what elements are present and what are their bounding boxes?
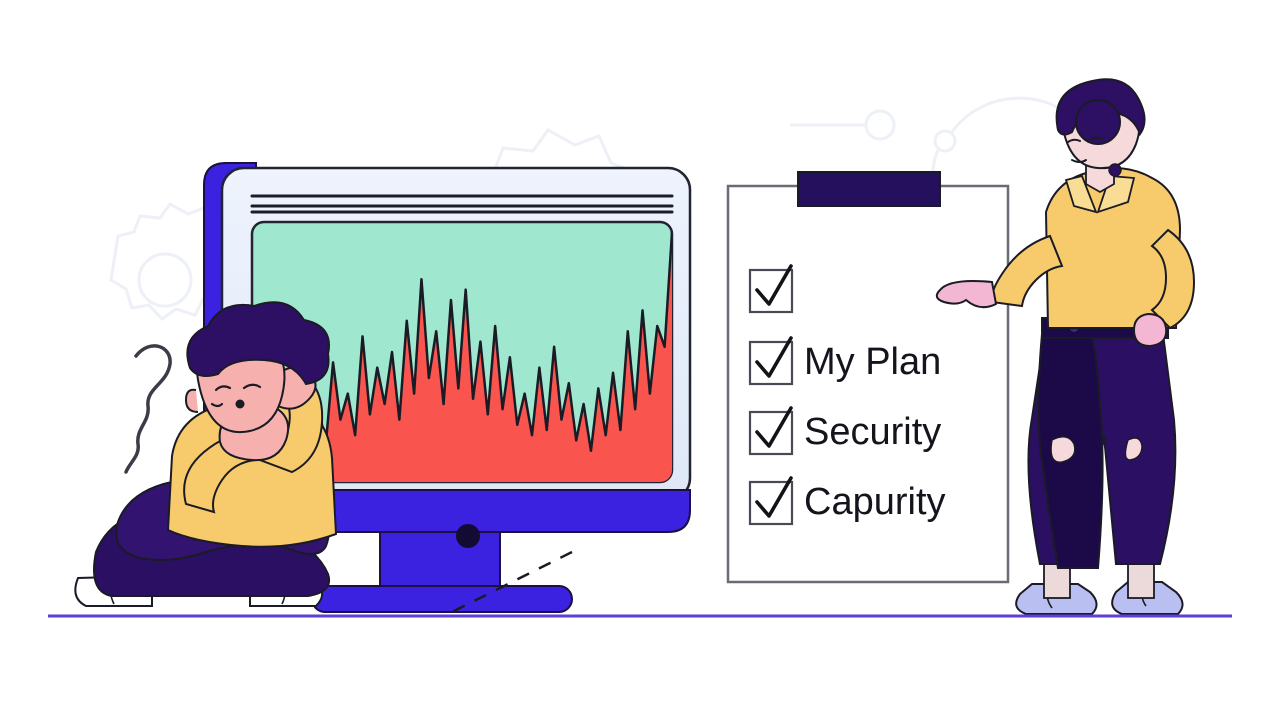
checklist-item-3[interactable]: Capurity <box>750 478 946 524</box>
power-button[interactable] <box>456 524 480 548</box>
checklist-label-2: Security <box>804 411 941 453</box>
clipboard-clip <box>798 172 940 206</box>
checklist-clipboard[interactable]: My Plan Security Capurity <box>728 172 1008 582</box>
checklist-item-0[interactable] <box>750 266 792 312</box>
man-ear <box>186 390 198 412</box>
checklist-item-2[interactable]: Security <box>750 408 941 454</box>
node-circle-left-icon <box>790 111 894 139</box>
woman-knee-rip-left <box>1051 437 1075 462</box>
checklist-label-1: My Plan <box>804 341 941 383</box>
woman-earring <box>1109 164 1121 176</box>
worried-seated-man[interactable] <box>75 302 336 606</box>
checklist-item-1[interactable]: My Plan <box>750 338 941 384</box>
checklist-label-3: Capurity <box>804 481 946 523</box>
question-squiggle-icon <box>126 346 170 472</box>
illustration-stage: My Plan Security Capurity <box>0 0 1280 720</box>
woman-shoes <box>1016 582 1182 614</box>
monitor-stand <box>312 530 572 612</box>
woman-hip-hand <box>1134 314 1166 346</box>
